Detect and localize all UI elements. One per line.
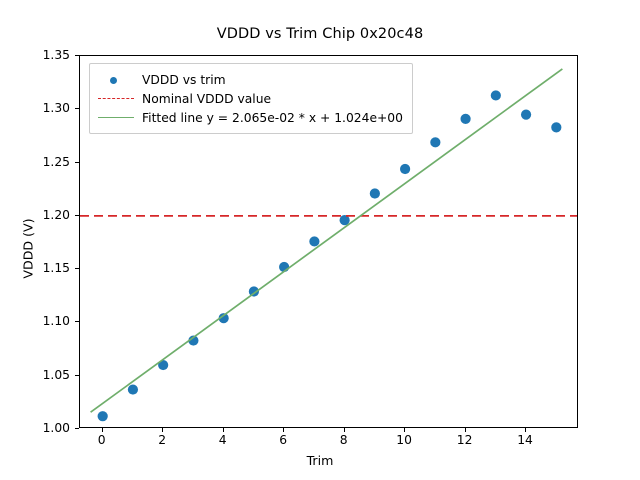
- x-tick-label: 4: [203, 433, 243, 447]
- x-tick-label: 12: [445, 433, 485, 447]
- x-tick-label: 8: [324, 433, 364, 447]
- x-tick-mark: [162, 428, 163, 432]
- y-tick-label: 1.10: [14, 314, 70, 328]
- x-tick-label: 2: [142, 433, 182, 447]
- data-point: [400, 164, 410, 174]
- y-tick-label: 1.20: [14, 208, 70, 222]
- y-tick-label: 1.05: [14, 368, 70, 382]
- x-tick-label: 10: [384, 433, 424, 447]
- data-point: [491, 90, 501, 100]
- y-tick-label: 1.15: [14, 261, 70, 275]
- legend-sample: [97, 73, 135, 87]
- y-tick-mark: [75, 428, 79, 429]
- x-tick-mark: [525, 428, 526, 432]
- x-tick-label: 0: [82, 433, 122, 447]
- data-point: [460, 114, 470, 124]
- y-tick-label: 1.00: [14, 421, 70, 435]
- figure-canvas: VDDD vs Trim Chip 0x20c48 VDDD (V) Trim …: [0, 0, 640, 480]
- x-tick-label: 6: [263, 433, 303, 447]
- legend-item[interactable]: VDDD vs trim: [97, 70, 403, 89]
- x-tick-mark: [102, 428, 103, 432]
- data-point: [430, 137, 440, 147]
- x-tick-label: 14: [505, 433, 545, 447]
- chart-legend: VDDD vs trimNominal VDDD valueFitted lin…: [89, 63, 413, 134]
- legend-sample: [97, 92, 135, 106]
- legend-item-label: VDDD vs trim: [142, 73, 226, 87]
- data-point: [521, 110, 531, 120]
- x-tick-mark: [465, 428, 466, 432]
- legend-item-label: Fitted line y = 2.065e-02 * x + 1.024e+0…: [142, 111, 403, 125]
- legend-solid-line-icon: [98, 117, 134, 118]
- legend-dashed-line-icon: [98, 98, 134, 99]
- x-tick-mark: [283, 428, 284, 432]
- data-point: [309, 236, 319, 246]
- legend-item[interactable]: Fitted line y = 2.065e-02 * x + 1.024e+0…: [97, 108, 403, 127]
- y-tick-label: 1.35: [14, 48, 70, 62]
- data-point: [551, 122, 561, 132]
- data-point: [370, 188, 380, 198]
- legend-item-label: Nominal VDDD value: [142, 92, 271, 106]
- legend-sample: [97, 111, 135, 125]
- legend-item[interactable]: Nominal VDDD value: [97, 89, 403, 108]
- legend-dot-icon: [110, 77, 117, 84]
- x-tick-mark: [404, 428, 405, 432]
- x-axis-label: Trim: [0, 453, 640, 468]
- x-tick-mark: [223, 428, 224, 432]
- data-point: [98, 411, 108, 421]
- y-tick-label: 1.30: [14, 101, 70, 115]
- y-tick-label: 1.25: [14, 155, 70, 169]
- data-point: [128, 384, 138, 394]
- x-tick-mark: [344, 428, 345, 432]
- chart-title: VDDD vs Trim Chip 0x20c48: [0, 26, 640, 42]
